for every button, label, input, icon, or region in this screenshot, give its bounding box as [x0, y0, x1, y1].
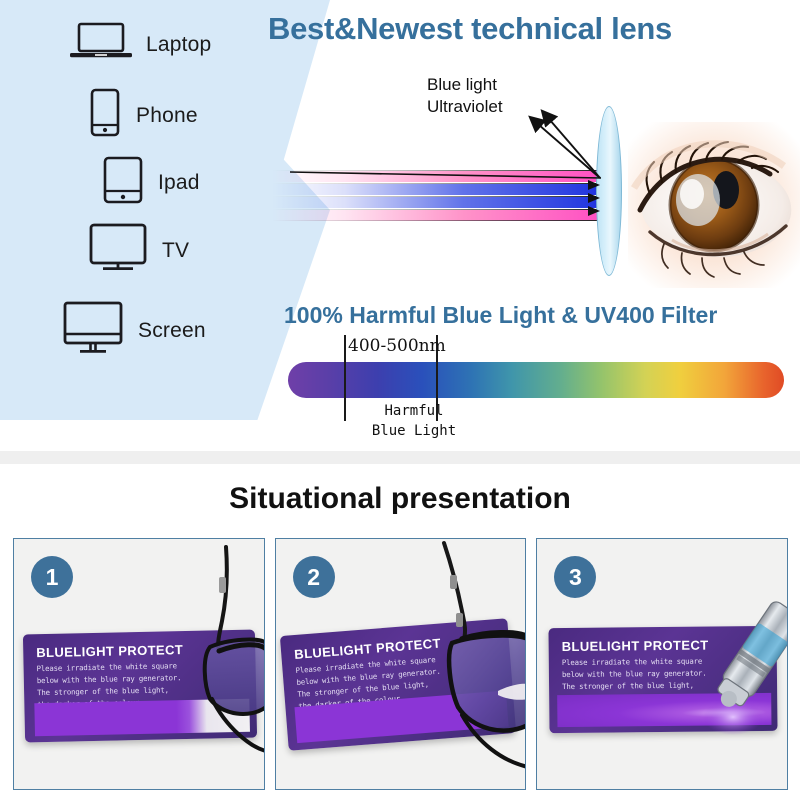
panel-number-badge: 2 [293, 556, 335, 598]
situational-panel-1[interactable]: 1 BLUELIGHT PROTECT Please irradiate the… [13, 538, 265, 790]
situational-title: Situational presentation [0, 482, 800, 516]
panel-number-badge: 1 [31, 556, 73, 598]
card-body-line-3: The stronger of the blue light, [562, 680, 707, 693]
bluelight-test-card: BLUELIGHT PROTECT Please irradiate the w… [280, 618, 516, 751]
reflected-ray-arrows [0, 0, 800, 451]
bluelight-test-card: BLUELIGHT PROTECT Please irradiate the w… [23, 630, 257, 743]
situational-panel-3[interactable]: 3 BLUELIGHT PROTECT Please irradiate the… [536, 538, 788, 790]
card-title: BLUELIGHT PROTECT [562, 638, 709, 655]
section-divider [0, 451, 800, 464]
panel-number-badge: 3 [554, 556, 596, 598]
card-title: BLUELIGHT PROTECT [36, 642, 183, 660]
situational-panel-2[interactable]: 2 BLUELIGHT PROTECT Please irradiate the… [275, 538, 527, 790]
situational-panels: 1 BLUELIGHT PROTECT Please irradiate the… [13, 538, 788, 793]
transmitted-ray-arrowheads [588, 178, 618, 230]
bluelight-test-card: BLUELIGHT PROTECT Please irradiate the w… [549, 626, 778, 733]
card-test-swatch [34, 699, 250, 736]
situational-section: Situational presentation 1 BLUELIGHT PRO… [0, 464, 800, 800]
product-feature-section: Laptop Phone Ipad [0, 0, 800, 451]
card-test-swatch [558, 693, 772, 727]
